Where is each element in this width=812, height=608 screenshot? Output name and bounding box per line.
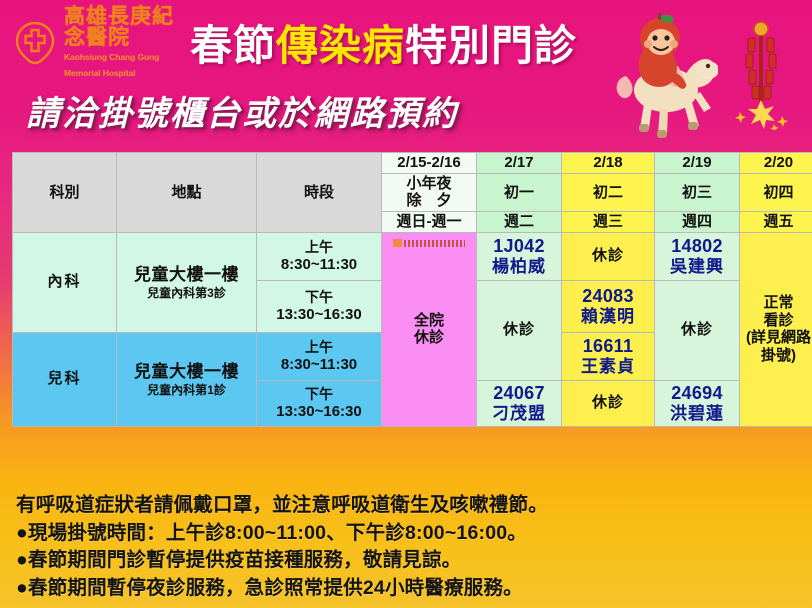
date-header-0218: 2/18 [562, 153, 655, 174]
closed-whole-hospital-cell: 全院 休診 [382, 232, 477, 426]
poster-header: 高雄長庚紀念醫院 Kaohsiung Chang Gung Memorial H… [0, 0, 812, 150]
lunar-eve-line2: 除 夕 [384, 192, 474, 210]
timeslot-label-am-pediatrics: 上午 [259, 339, 379, 356]
note-line: 有呼吸道症狀者請佩戴口罩，並注意呼吸道衛生及咳嗽禮節。 [16, 492, 806, 520]
column-header-dept: 科別 [13, 153, 117, 233]
schedule-cell-0219-internal-am: 14802 吳建興 [655, 232, 740, 280]
doctor-name: 刁茂盟 [479, 404, 559, 424]
schedule-table-container: 科別 地點 時段 2/15-2/16 2/17 2/18 2/19 2/20 小… [12, 152, 800, 427]
doctor-id: 14802 [657, 236, 737, 257]
weekday-header-0218: 週三 [562, 212, 655, 233]
lunar-header-0215-0216: 小年夜 除 夕 [382, 173, 477, 211]
schedule-cell-0217-internal-am: 1J042 楊柏威 [477, 232, 562, 280]
hospital-watermark-icon [393, 239, 465, 248]
date-header-0217: 2/17 [477, 153, 562, 174]
location-main-pediatrics: 兒童大樓一樓 [119, 362, 254, 382]
date-header-0215-0216: 2/15-2/16 [382, 153, 477, 174]
lunar-header-0220: 初四 [740, 173, 812, 211]
dept-cell-internal-medicine: 內科 [13, 232, 117, 332]
doctor-id: 24083 [564, 286, 652, 307]
normal-line1: 正常 [742, 294, 812, 312]
normal-line3: (詳見網路掛號) [742, 329, 812, 364]
hospital-cross-emblem-icon [12, 20, 58, 66]
lunar-header-0217: 初一 [477, 173, 562, 211]
weekday-header-0219: 週四 [655, 212, 740, 233]
timeslot-range-am-pediatrics: 8:30~11:30 [259, 356, 379, 374]
weekday-header-0215-0216: 週日-週一 [382, 212, 477, 233]
timeslot-label-pm-pediatrics: 下午 [259, 386, 379, 403]
timeslot-label-pm-internal: 下午 [259, 289, 379, 306]
lunar-header-0219: 初三 [655, 173, 740, 211]
schedule-cell-0217-afternoon-merged: 休診 [477, 280, 562, 380]
column-header-timeslot: 時段 [257, 153, 382, 233]
hospital-name-en: Kaohsiung Chang Gung Memorial Hospital [64, 52, 159, 78]
title-part-2: 特別門診 [405, 22, 577, 69]
doctor-id: 16611 [564, 336, 652, 357]
doctor-id: 24694 [657, 383, 737, 404]
doctor-id: 24067 [479, 383, 559, 404]
firecracker-icon [728, 20, 794, 130]
location-main-internal: 兒童大樓一樓 [119, 265, 254, 285]
location-sub-internal: 兒童內科第3診 [119, 286, 254, 300]
table-header-row-dates: 科別 地點 時段 2/15-2/16 2/17 2/18 2/19 2/20 [13, 153, 812, 174]
date-header-0220: 2/20 [740, 153, 812, 174]
page-subtitle: 請洽掛號櫃台或於網路預約 [26, 86, 458, 135]
weekday-header-0220: 週五 [740, 212, 812, 233]
schedule-cell-0218-internal-am: 休診 [562, 232, 655, 280]
doctor-name: 吳建興 [657, 257, 737, 277]
schedule-cell-0217-pediatrics-pm: 24067 刁茂盟 [477, 380, 562, 426]
schedule-cell-0219-afternoon-merged: 休診 [655, 280, 740, 380]
lunar-eve-line1: 小年夜 [384, 175, 474, 193]
dept-cell-pediatrics: 兒科 [13, 332, 117, 426]
schedule-cell-0219-pediatrics-pm: 24694 洪碧蓮 [655, 380, 740, 426]
timeslot-cell-pediatrics-morning: 上午 8:30~11:30 [257, 332, 382, 380]
hospital-name-cn: 高雄長庚紀念醫院 [64, 4, 174, 49]
schedule-cell-0218-pediatrics-pm: 休診 [562, 380, 655, 426]
normal-service-cell-0220: 正常 看診 (詳見網路掛號) [740, 232, 812, 426]
title-part-1: 春節 [190, 22, 276, 69]
location-cell-internal-medicine: 兒童大樓一樓 兒童內科第3診 [117, 232, 257, 332]
doctor-name: 洪碧蓮 [657, 404, 737, 424]
note-line: ●現場掛號時間：上午診8:00~11:00、下午診8:00~16:00。 [16, 520, 806, 548]
note-line: ●春節期間暫停夜診服務，急診照常提供24小時醫療服務。 [16, 575, 806, 603]
timeslot-range-pm-internal: 13:30~16:30 [259, 306, 379, 324]
location-cell-pediatrics: 兒童大樓一樓 兒童內科第1診 [117, 332, 257, 426]
doctor-name: 楊柏威 [479, 257, 559, 277]
lunar-header-0218: 初二 [562, 173, 655, 211]
timeslot-range-pm-pediatrics: 13:30~16:30 [259, 403, 379, 421]
page-title: 春節傳染病特別門診 [190, 12, 577, 73]
hospital-logo-text: 高雄長庚紀念醫院 Kaohsiung Chang Gung Memorial H… [64, 6, 182, 80]
column-header-location: 地點 [117, 153, 257, 233]
schedule-cell-0218-internal-pm: 24083 賴漢明 [562, 280, 655, 332]
doctor-name: 王素貞 [564, 357, 652, 377]
weekday-header-0217: 週二 [477, 212, 562, 233]
table-row: 內科 兒童大樓一樓 兒童內科第3診 上午 8:30~11:30 全院 [13, 232, 812, 280]
timeslot-range-am-internal: 8:30~11:30 [259, 256, 379, 274]
title-part-highlight: 傳染病 [276, 22, 405, 69]
doctor-id: 1J042 [479, 236, 559, 257]
poster-root: 高雄長庚紀念醫院 Kaohsiung Chang Gung Memorial H… [0, 0, 812, 608]
footer-notes: 有呼吸道症狀者請佩戴口罩，並注意呼吸道衛生及咳嗽禮節。 ●現場掛號時間：上午診8… [16, 492, 806, 603]
hospital-logo: 高雄長庚紀念醫院 Kaohsiung Chang Gung Memorial H… [12, 12, 182, 74]
timeslot-cell-pediatrics-afternoon: 下午 13:30~16:30 [257, 380, 382, 426]
timeslot-cell-internal-morning: 上午 8:30~11:30 [257, 232, 382, 280]
monkey-riding-horse-mascot-icon [608, 4, 718, 144]
location-sub-pediatrics: 兒童內科第1診 [119, 383, 254, 397]
normal-line2: 看診 [742, 312, 812, 330]
schedule-cell-0218-pediatrics-am: 16611 王素貞 [562, 332, 655, 380]
date-header-0219: 2/19 [655, 153, 740, 174]
clinic-schedule-table: 科別 地點 時段 2/15-2/16 2/17 2/18 2/19 2/20 小… [12, 152, 812, 427]
timeslot-label-am-internal: 上午 [259, 239, 379, 256]
doctor-name: 賴漢明 [564, 307, 652, 327]
note-line: ●春節期間門診暫停提供疫苗接種服務，敬請見諒。 [16, 547, 806, 575]
timeslot-cell-internal-afternoon: 下午 13:30~16:30 [257, 280, 382, 332]
closed-all-line1: 全院 [384, 312, 474, 330]
closed-all-line2: 休診 [384, 329, 474, 347]
